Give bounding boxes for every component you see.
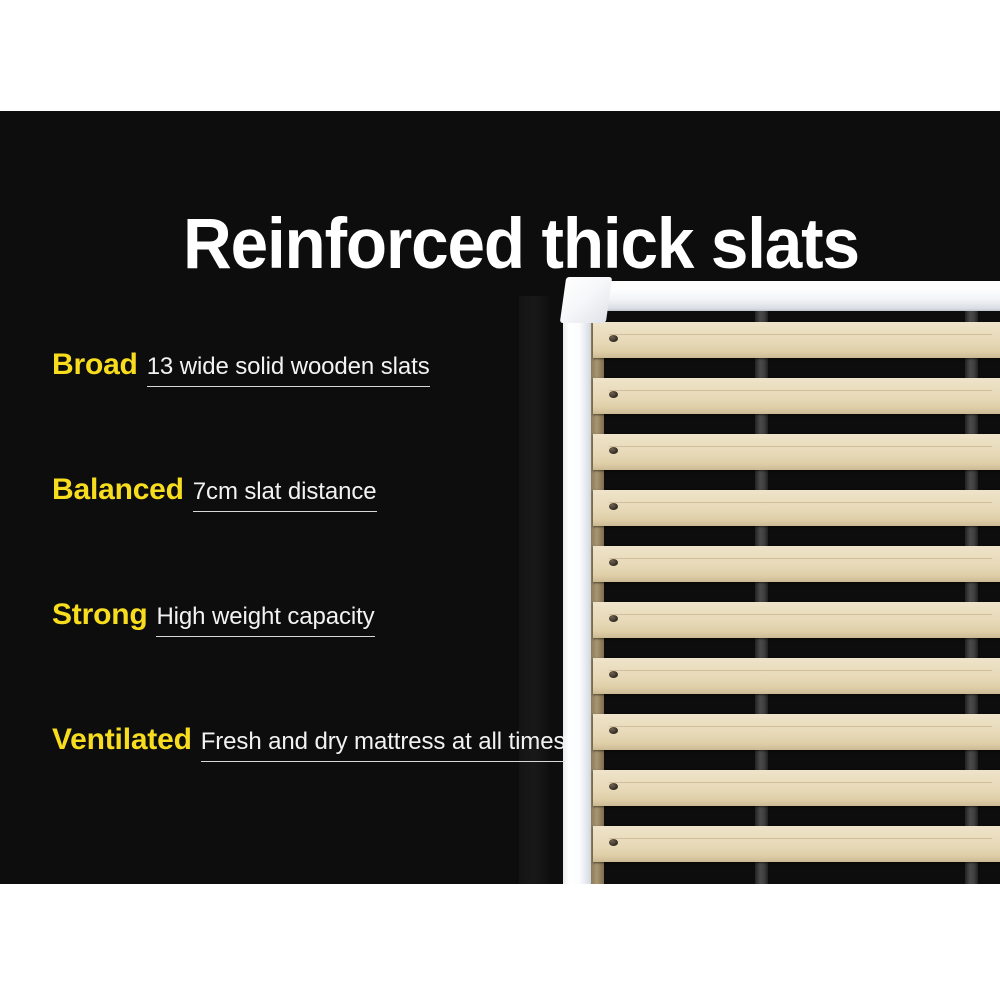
photo-shadow	[519, 296, 549, 884]
feature-value-underline: 7cm slat distance	[193, 478, 377, 512]
feature-value-underline: High weight capacity	[156, 603, 374, 637]
wooden-slat	[593, 826, 1000, 862]
feature-item-balanced: Balanced 7cm slat distance	[52, 473, 522, 598]
bottom-white-margin	[0, 884, 1000, 1000]
screw-icon	[609, 615, 618, 622]
feature-value: 13 wide solid wooden slats	[147, 353, 430, 380]
wooden-slat	[593, 378, 1000, 414]
wooden-slat	[593, 490, 1000, 526]
screw-icon	[609, 727, 618, 734]
wooden-slat	[593, 714, 1000, 750]
feature-value: Fresh and dry mattress at all times	[201, 728, 566, 755]
feature-value-underline: Fresh and dry mattress at all times	[201, 728, 566, 762]
bed-frame-top-rail	[581, 281, 1000, 311]
wooden-slat	[593, 602, 1000, 638]
screw-icon	[609, 503, 618, 510]
bed-frame-post	[563, 307, 593, 884]
screw-icon	[609, 335, 618, 342]
top-white-margin	[0, 0, 1000, 111]
feature-item-broad: Broad 13 wide solid wooden slats	[52, 348, 522, 473]
screw-icon	[609, 839, 618, 846]
wooden-slat	[593, 546, 1000, 582]
screw-icon	[609, 559, 618, 566]
screw-icon	[609, 783, 618, 790]
promo-canvas: Reinforced thick slats Broad 13 wide sol…	[0, 0, 1000, 1000]
feature-value: High weight capacity	[156, 603, 374, 630]
feature-item-ventilated: Ventilated Fresh and dry mattress at all…	[52, 723, 522, 848]
content-panel: Reinforced thick slats Broad 13 wide sol…	[0, 111, 1000, 884]
feature-key: Balanced	[52, 473, 184, 507]
wooden-slat	[593, 770, 1000, 806]
feature-value: 7cm slat distance	[193, 478, 377, 505]
wooden-slat	[593, 434, 1000, 470]
feature-key: Ventilated	[52, 723, 192, 757]
wooden-slat	[593, 322, 1000, 358]
feature-key: Broad	[52, 348, 138, 382]
screw-icon	[609, 391, 618, 398]
screw-icon	[609, 671, 618, 678]
page-title: Reinforced thick slats	[183, 209, 859, 280]
screw-icon	[609, 447, 618, 454]
feature-list: Broad 13 wide solid wooden slats Balance…	[52, 348, 522, 848]
feature-item-strong: Strong High weight capacity	[52, 598, 522, 723]
feature-value-underline: 13 wide solid wooden slats	[147, 353, 430, 387]
feature-key: Strong	[52, 598, 147, 632]
bed-frame-corner	[560, 277, 612, 323]
wooden-slat	[593, 658, 1000, 694]
